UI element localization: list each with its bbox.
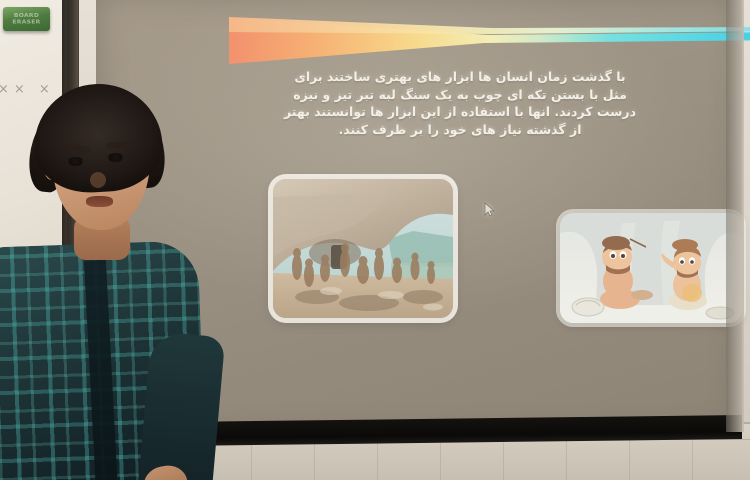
- mouse-cursor-icon: [484, 202, 495, 217]
- slide-text-line-3: درست کردند. انها با استفاده از این ابزار…: [250, 103, 670, 121]
- slide-text-line-1: با گذشت زمان انسان ها ابزار های بهتری سا…: [250, 68, 670, 86]
- projector-screen-right-edge: [726, 0, 744, 432]
- student-presenter: [0, 84, 224, 480]
- presenter-eye-right: [107, 153, 124, 162]
- slide-image-prehistoric-cave-dwelling: [273, 179, 453, 318]
- eraser-label: BOARD ERASER: [3, 8, 50, 30]
- presenter-nose: [90, 172, 106, 188]
- slide-text-line-4: از گذشته نیاز های خود را بر طرف کنند.: [250, 121, 670, 139]
- classroom-presentation-photo: ×× × BOARD ERASER: [0, 0, 750, 480]
- slide-body-text: با گذشت زمان انسان ها ابزار های بهتری سا…: [250, 68, 670, 138]
- whiteboard-eraser-icon[interactable]: BOARD ERASER: [3, 7, 50, 31]
- presenter-eye-left: [67, 157, 84, 166]
- slide-image-cavemen-cartoon: [560, 213, 742, 323]
- slide-text-line-2: مثل با بستن تکه ای چوب به یک سنگ لبه تبر…: [250, 86, 670, 104]
- presenter-mouth: [86, 196, 113, 207]
